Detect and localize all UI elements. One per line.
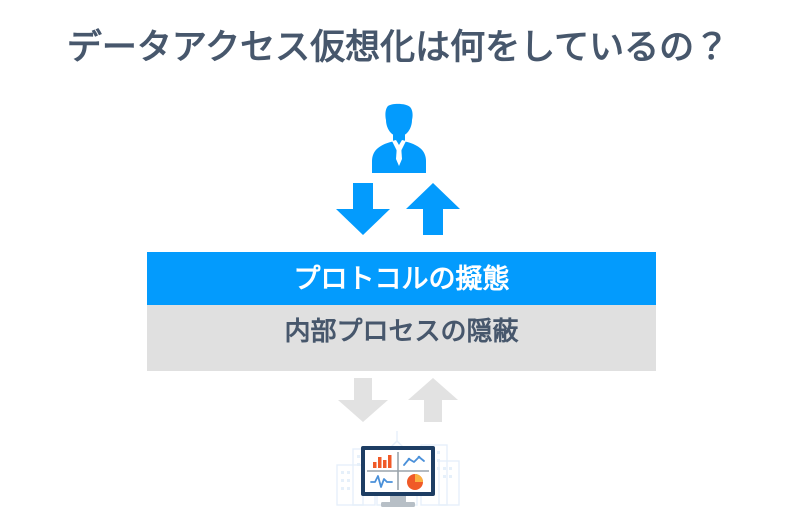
arrow-down-icon [328, 183, 398, 235]
bottom-arrow-pair [328, 378, 468, 422]
band-process-hiding: 内部プロセスの隠蔽 [147, 305, 656, 371]
band-label-protocol: プロトコルの擬態 [294, 259, 510, 299]
monitor-dashboard-icon [335, 427, 461, 512]
band-protocol-emulation: プロトコルの擬態 [147, 252, 656, 305]
band-label-process: 内部プロセスの隠蔽 [284, 311, 518, 351]
pie-chart-thumbnail [407, 474, 423, 490]
arrow-up-icon [398, 378, 468, 422]
arrow-up-icon [398, 183, 468, 235]
page-title: データアクセス仮想化は何をしているの？ [0, 26, 796, 70]
user-person-icon [371, 103, 427, 173]
top-arrow-pair [328, 183, 468, 235]
slide-canvas: データアクセス仮想化は何をしているの？ プロト [0, 0, 796, 512]
arrow-down-icon [328, 378, 398, 422]
